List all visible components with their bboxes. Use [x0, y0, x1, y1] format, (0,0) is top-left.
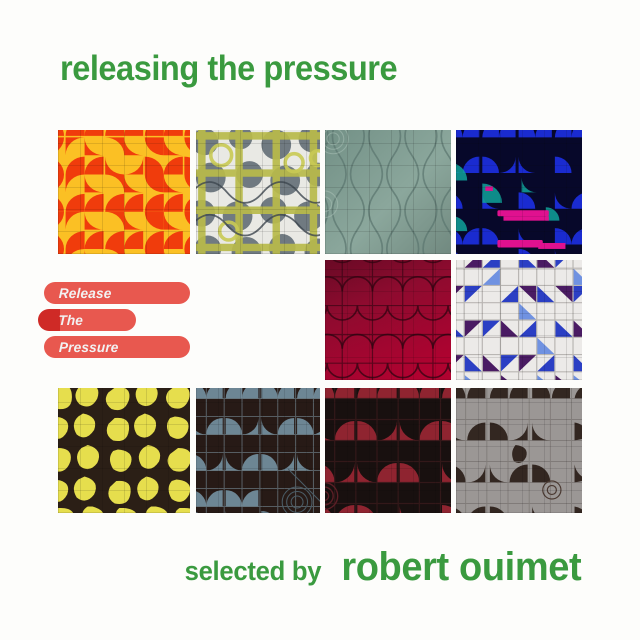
credit-prefix: selected by: [184, 556, 321, 587]
album-cover: releasing the pressure: [0, 0, 640, 640]
tile-texture-slate: [196, 388, 320, 513]
tile-grey-glyphs: [456, 388, 582, 513]
tile-sage-waves: [325, 130, 451, 254]
logo-label-the: The: [58, 312, 83, 328]
logo-bar-release: Release: [44, 282, 190, 304]
tile-texture-cobalt: [456, 130, 582, 254]
tile-texture-yellow: [58, 388, 190, 513]
tile-slate-shards: [196, 388, 320, 513]
tile-maroon-arcs: [325, 388, 451, 513]
logo-bar-pressure: Pressure: [44, 336, 190, 358]
tile-texture-grey: [456, 388, 582, 513]
tile-olive-grid: [196, 130, 320, 254]
logo-label-release: Release: [59, 285, 112, 301]
tile-texture-olive: [196, 130, 320, 254]
tile-texture-sage: [325, 130, 451, 254]
tile-cobalt-night: [456, 130, 582, 254]
tile-texture-maroon: [325, 388, 451, 513]
tile-texture-orange: [58, 130, 190, 254]
tile-crimson-quilt: [325, 260, 451, 380]
logo-bar-the: The: [44, 309, 136, 331]
tile-orange-fans: [58, 130, 190, 254]
release-the-pressure-logo: Release The Pressure: [44, 282, 196, 360]
tile-texture-violet: [456, 260, 582, 380]
tile-texture-crimson: [325, 260, 451, 380]
credit-line: selected by robert ouimet: [181, 545, 588, 590]
logo-label-pressure: Pressure: [59, 339, 119, 355]
tile-yellow-leaves: [58, 388, 190, 513]
credit-artist-name: robert ouimet: [342, 545, 582, 590]
tile-violet-mosaic: [456, 260, 582, 380]
page-title: releasing the pressure: [60, 49, 397, 89]
